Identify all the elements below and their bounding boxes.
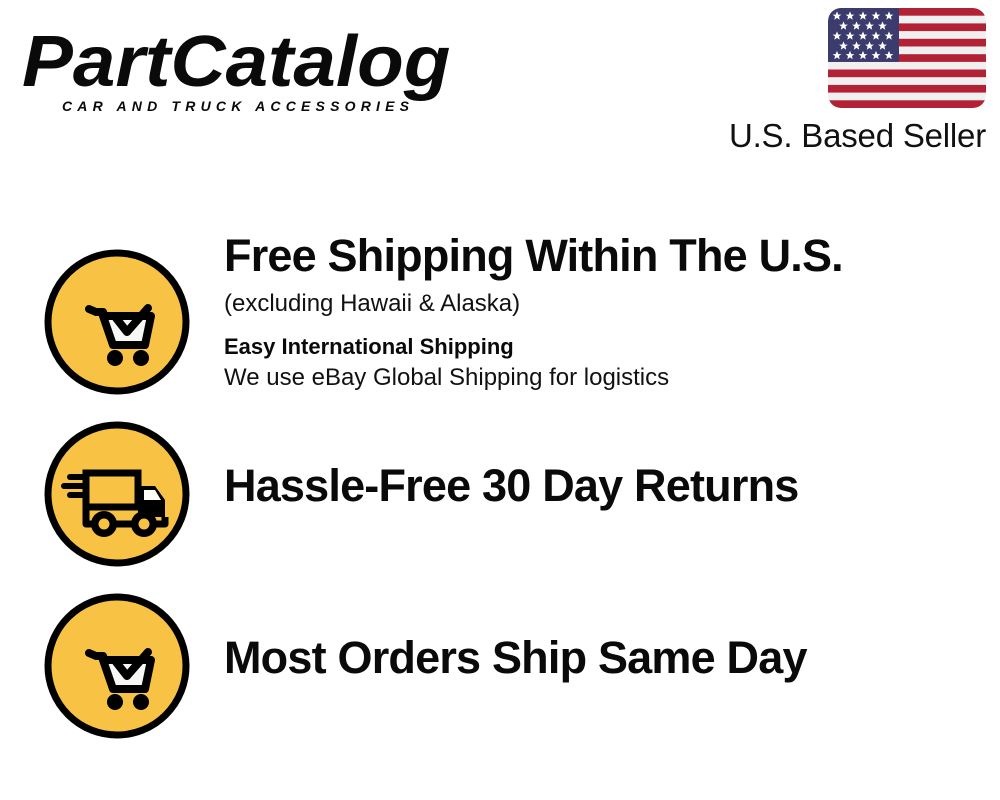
feature-row: Most Orders Ship Same Day: [41, 590, 981, 750]
feature-subline-strong: Easy International Shipping: [224, 333, 974, 361]
brand-logo: PartCatalog CAR AND TRUCK ACCESSORIES: [22, 18, 492, 118]
us-based-seller-badge: U.S. Based Seller: [714, 8, 986, 152]
feature-text-block: Free Shipping Within The U.S. (excluding…: [224, 232, 974, 393]
brand-logo-tagline: CAR AND TRUCK ACCESSORIES: [62, 98, 414, 114]
brand-logo-wordmark: PartCatalog: [22, 21, 450, 102]
feature-text-block: Hassle-Free 30 Day Returns: [224, 462, 974, 511]
feature-headline: Most Orders Ship Same Day: [224, 634, 974, 683]
feature-headline: Hassle-Free 30 Day Returns: [224, 462, 974, 511]
shopping-cart-check-icon: [41, 590, 193, 742]
seller-info-banner: PartCatalog CAR AND TRUCK ACCESSORIES: [0, 0, 1000, 800]
feature-text-block: Most Orders Ship Same Day: [224, 634, 974, 683]
feature-row: Hassle-Free 30 Day Returns: [41, 418, 981, 578]
delivery-truck-icon: [41, 418, 193, 570]
us-based-seller-label: U.S. Based Seller: [714, 119, 986, 152]
shopping-cart-check-icon: [41, 246, 193, 398]
feature-row: Free Shipping Within The U.S. (excluding…: [41, 246, 981, 406]
us-flag-icon: [828, 8, 986, 108]
feature-headline: Free Shipping Within The U.S.: [224, 232, 974, 281]
feature-subline-note: We use eBay Global Shipping for logistic…: [224, 363, 974, 393]
feature-subline: (excluding Hawaii & Alaska): [224, 289, 974, 319]
